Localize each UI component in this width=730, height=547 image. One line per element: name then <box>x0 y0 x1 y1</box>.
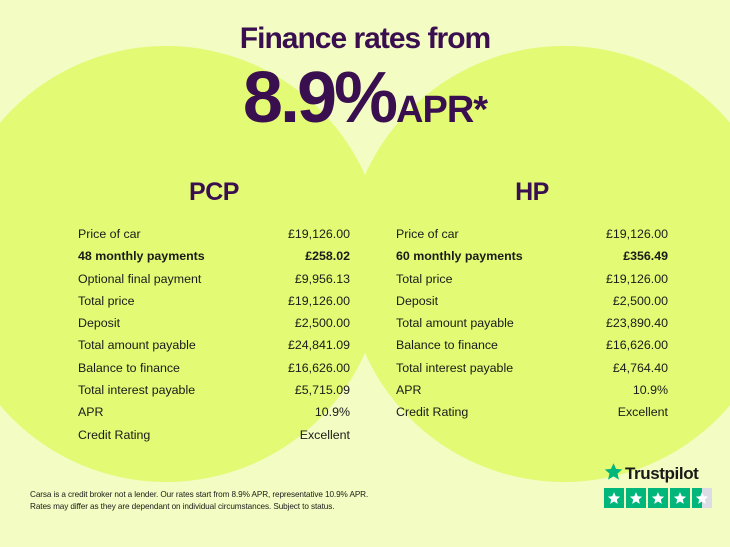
table-row: Deposit £2,500.00 <box>396 290 668 312</box>
headline-rate: 8.9% APR* <box>0 62 730 134</box>
row-label: Balance to finance <box>78 357 180 379</box>
row-value: Excellent <box>300 424 350 446</box>
row-value: 10.9% <box>315 401 350 423</box>
table-row: APR 10.9% <box>396 379 668 401</box>
plan-card-pcp: PCP Price of car £19,126.00 48 monthly p… <box>78 178 350 446</box>
row-label: Total price <box>78 290 134 312</box>
row-value: £19,126.00 <box>606 223 668 245</box>
row-label: APR <box>78 401 103 423</box>
row-label: 48 monthly payments <box>78 245 205 267</box>
table-row: Total amount payable £23,890.40 <box>396 312 668 334</box>
table-row: Optional final payment £9,956.13 <box>78 268 350 290</box>
row-label: Optional final payment <box>78 268 201 290</box>
plan-rows-pcp: Price of car £19,126.00 48 monthly payme… <box>78 223 350 446</box>
table-row: Total price £19,126.00 <box>78 290 350 312</box>
table-row: Price of car £19,126.00 <box>78 223 350 245</box>
trustpilot-rating: Trustpilot <box>604 463 716 508</box>
row-label: Price of car <box>78 223 141 245</box>
row-label: Total amount payable <box>396 312 514 334</box>
row-label: Credit Rating <box>396 401 468 423</box>
rate-unit: APR* <box>396 91 487 129</box>
table-row: Total interest payable £4,764.40 <box>396 357 668 379</box>
row-value: £19,126.00 <box>606 268 668 290</box>
disclaimer-text: Carsa is a credit broker not a lender. O… <box>30 489 368 514</box>
row-label: Total interest payable <box>78 379 195 401</box>
row-value: £2,500.00 <box>613 290 668 312</box>
row-label: 60 monthly payments <box>396 245 523 267</box>
table-row: Price of car £19,126.00 <box>396 223 668 245</box>
trustpilot-stars <box>604 488 716 508</box>
plan-title-pcp: PCP <box>78 178 350 207</box>
table-row: Balance to finance £16,626.00 <box>78 357 350 379</box>
row-value: £16,626.00 <box>288 357 350 379</box>
row-value: £2,500.00 <box>295 312 350 334</box>
disclaimer-line-2: Rates may differ as they are dependant o… <box>30 501 368 513</box>
table-row: APR 10.9% <box>78 401 350 423</box>
row-label: Total amount payable <box>78 334 196 356</box>
table-row: Total interest payable £5,715.09 <box>78 379 350 401</box>
promo-graphic: Finance rates from 8.9% APR* PCP Price o… <box>0 0 730 547</box>
row-label: Credit Rating <box>78 424 150 446</box>
row-label: Total price <box>396 268 452 290</box>
row-value: £19,126.00 <box>288 290 350 312</box>
rate-value: 8.9% <box>243 62 395 134</box>
row-label: Price of car <box>396 223 459 245</box>
rating-star-4 <box>670 488 690 508</box>
row-value: £4,764.40 <box>613 357 668 379</box>
trustpilot-brand: Trustpilot <box>604 463 716 485</box>
row-value: £19,126.00 <box>288 223 350 245</box>
row-label: Deposit <box>78 312 120 334</box>
table-row: Credit Rating Excellent <box>396 401 668 423</box>
trustpilot-star-icon <box>604 462 623 486</box>
table-row: Balance to finance £16,626.00 <box>396 334 668 356</box>
disclaimer-line-1: Carsa is a credit broker not a lender. O… <box>30 489 368 501</box>
rating-star-5-half <box>692 488 712 508</box>
row-value: £5,715.09 <box>295 379 350 401</box>
table-row: 48 monthly payments £258.02 <box>78 245 350 267</box>
row-value: £16,626.00 <box>606 334 668 356</box>
row-value: 10.9% <box>633 379 668 401</box>
row-value: Excellent <box>618 401 668 423</box>
plan-rows-hp: Price of car £19,126.00 60 monthly payme… <box>396 223 668 424</box>
trustpilot-wordmark: Trustpilot <box>625 464 698 484</box>
rating-star-2 <box>626 488 646 508</box>
row-value: £258.02 <box>305 245 350 267</box>
row-value: £23,890.40 <box>606 312 668 334</box>
row-label: Total interest payable <box>396 357 513 379</box>
row-label: APR <box>396 379 421 401</box>
row-value: £24,841.09 <box>288 334 350 356</box>
rating-star-3 <box>648 488 668 508</box>
table-row: Deposit £2,500.00 <box>78 312 350 334</box>
table-row: 60 monthly payments £356.49 <box>396 245 668 267</box>
plan-card-hp: HP Price of car £19,126.00 60 monthly pa… <box>396 178 668 424</box>
row-label: Deposit <box>396 290 438 312</box>
table-row: Credit Rating Excellent <box>78 424 350 446</box>
table-row: Total price £19,126.00 <box>396 268 668 290</box>
table-row: Total amount payable £24,841.09 <box>78 334 350 356</box>
rating-star-1 <box>604 488 624 508</box>
row-value: £9,956.13 <box>295 268 350 290</box>
plan-title-hp: HP <box>396 178 668 207</box>
row-value: £356.49 <box>623 245 668 267</box>
page-title: Finance rates from <box>0 22 730 56</box>
row-label: Balance to finance <box>396 334 498 356</box>
